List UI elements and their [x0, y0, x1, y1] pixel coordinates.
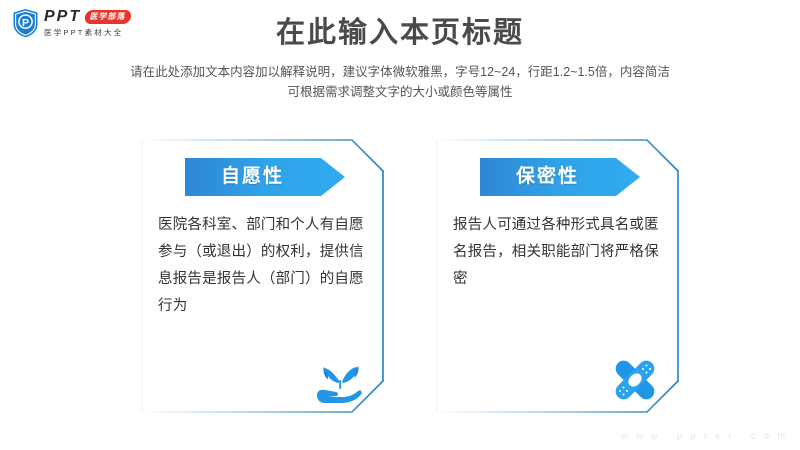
card-container: 自愿性 医院各科室、部门和个人有自愿参与（或退出）的权利，提供信息报告是报告人（…: [0, 138, 800, 416]
card-banner: 保密性: [480, 158, 640, 196]
footer-watermark: w w w . p p t e r . c o m: [621, 431, 788, 441]
card-banner-label: 保密性: [480, 158, 615, 196]
card-body-text: 报告人可通过各种形式具名或匿名报告，相关职能部门将严格保密: [453, 212, 661, 293]
card-voluntariness[interactable]: 自愿性 医院各科室、部门和个人有自愿参与（或退出）的权利，提供信息报告是报告人（…: [140, 138, 385, 414]
crossed-bandage-icon: [608, 356, 662, 404]
page-subtitle-line-2: 可根据需求调整文字的大小或颜色等属性: [0, 82, 800, 102]
page-subtitle-line-1: 请在此处添加文本内容加以解释说明，建议字体微软雅黑，字号12~24，行距1.2~…: [0, 62, 800, 82]
card-banner: 自愿性: [185, 158, 345, 196]
page-title: 在此输入本页标题: [0, 16, 800, 50]
card-confidentiality[interactable]: 保密性 报告人可通过各种形式具名或匿名报告，相关职能部门将严格保密: [435, 138, 680, 414]
hand-holding-plant-icon: [313, 356, 367, 404]
card-banner-label: 自愿性: [185, 158, 320, 196]
page-subtitle: 请在此处添加文本内容加以解释说明，建议字体微软雅黑，字号12~24，行距1.2~…: [0, 62, 800, 102]
card-body-text: 医院各科室、部门和个人有自愿参与（或退出）的权利，提供信息报告是报告人（部门）的…: [158, 212, 366, 320]
